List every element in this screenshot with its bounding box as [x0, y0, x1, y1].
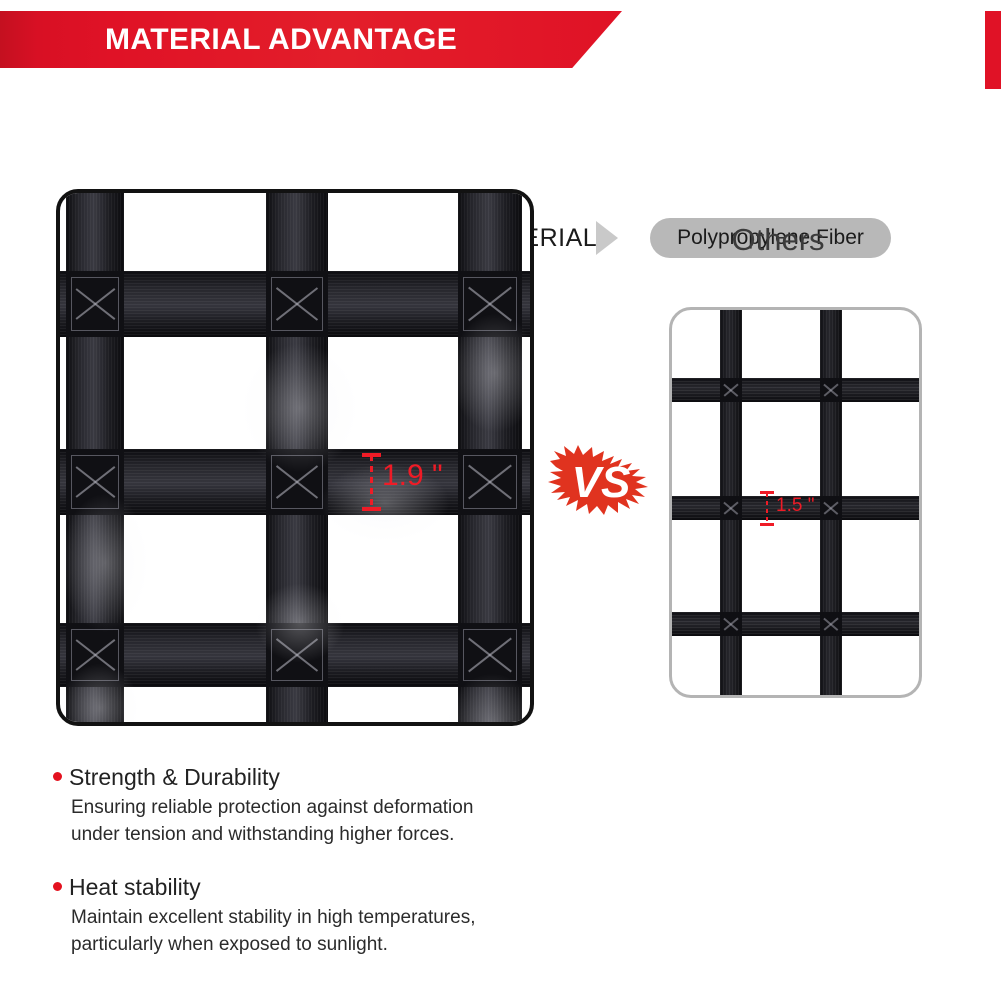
list-item: Heat stability Maintain excellent stabil…: [53, 874, 613, 958]
vs-badge: VS: [548, 443, 654, 519]
page-title: MATERIAL ADVANTAGE: [105, 23, 457, 57]
feature-list: Strength & Durability Ensuring reliable …: [53, 764, 613, 984]
svg-text:VS: VS: [572, 458, 631, 507]
feature-description: Ensuring reliable protection against def…: [71, 795, 613, 847]
others-dimension-cap-bottom-icon: [760, 523, 774, 526]
header-accent-bar: [985, 11, 1001, 89]
material-compare-row: Polyester MATERIAL Polypropylene Fiber: [0, 104, 1001, 166]
feature-title: Strength & Durability: [69, 764, 280, 790]
infographic-page: MATERIAL ADVANTAGE Polyester MATERIAL Po…: [0, 0, 1001, 1001]
feature-title: Heat stability: [69, 874, 201, 900]
polyester-net-image: 1.9 ": [56, 189, 534, 726]
polyester-net-weave: [60, 193, 530, 722]
feature-description: Maintain excellent stability in high tem…: [71, 905, 613, 957]
list-item: Strength & Durability Ensuring reliable …: [53, 764, 613, 848]
others-dimension-cap-top-icon: [760, 491, 774, 494]
header-banner: MATERIAL ADVANTAGE: [0, 11, 622, 68]
others-net-image: 1.5 ": [669, 307, 922, 698]
bullet-dot-icon: [53, 882, 62, 891]
others-title: Others: [650, 222, 906, 258]
feature-heading: Heat stability: [53, 874, 613, 900]
bullet-dot-icon: [53, 772, 62, 781]
feature-heading: Strength & Durability: [53, 764, 613, 790]
arrow-right-icon: [596, 221, 618, 255]
